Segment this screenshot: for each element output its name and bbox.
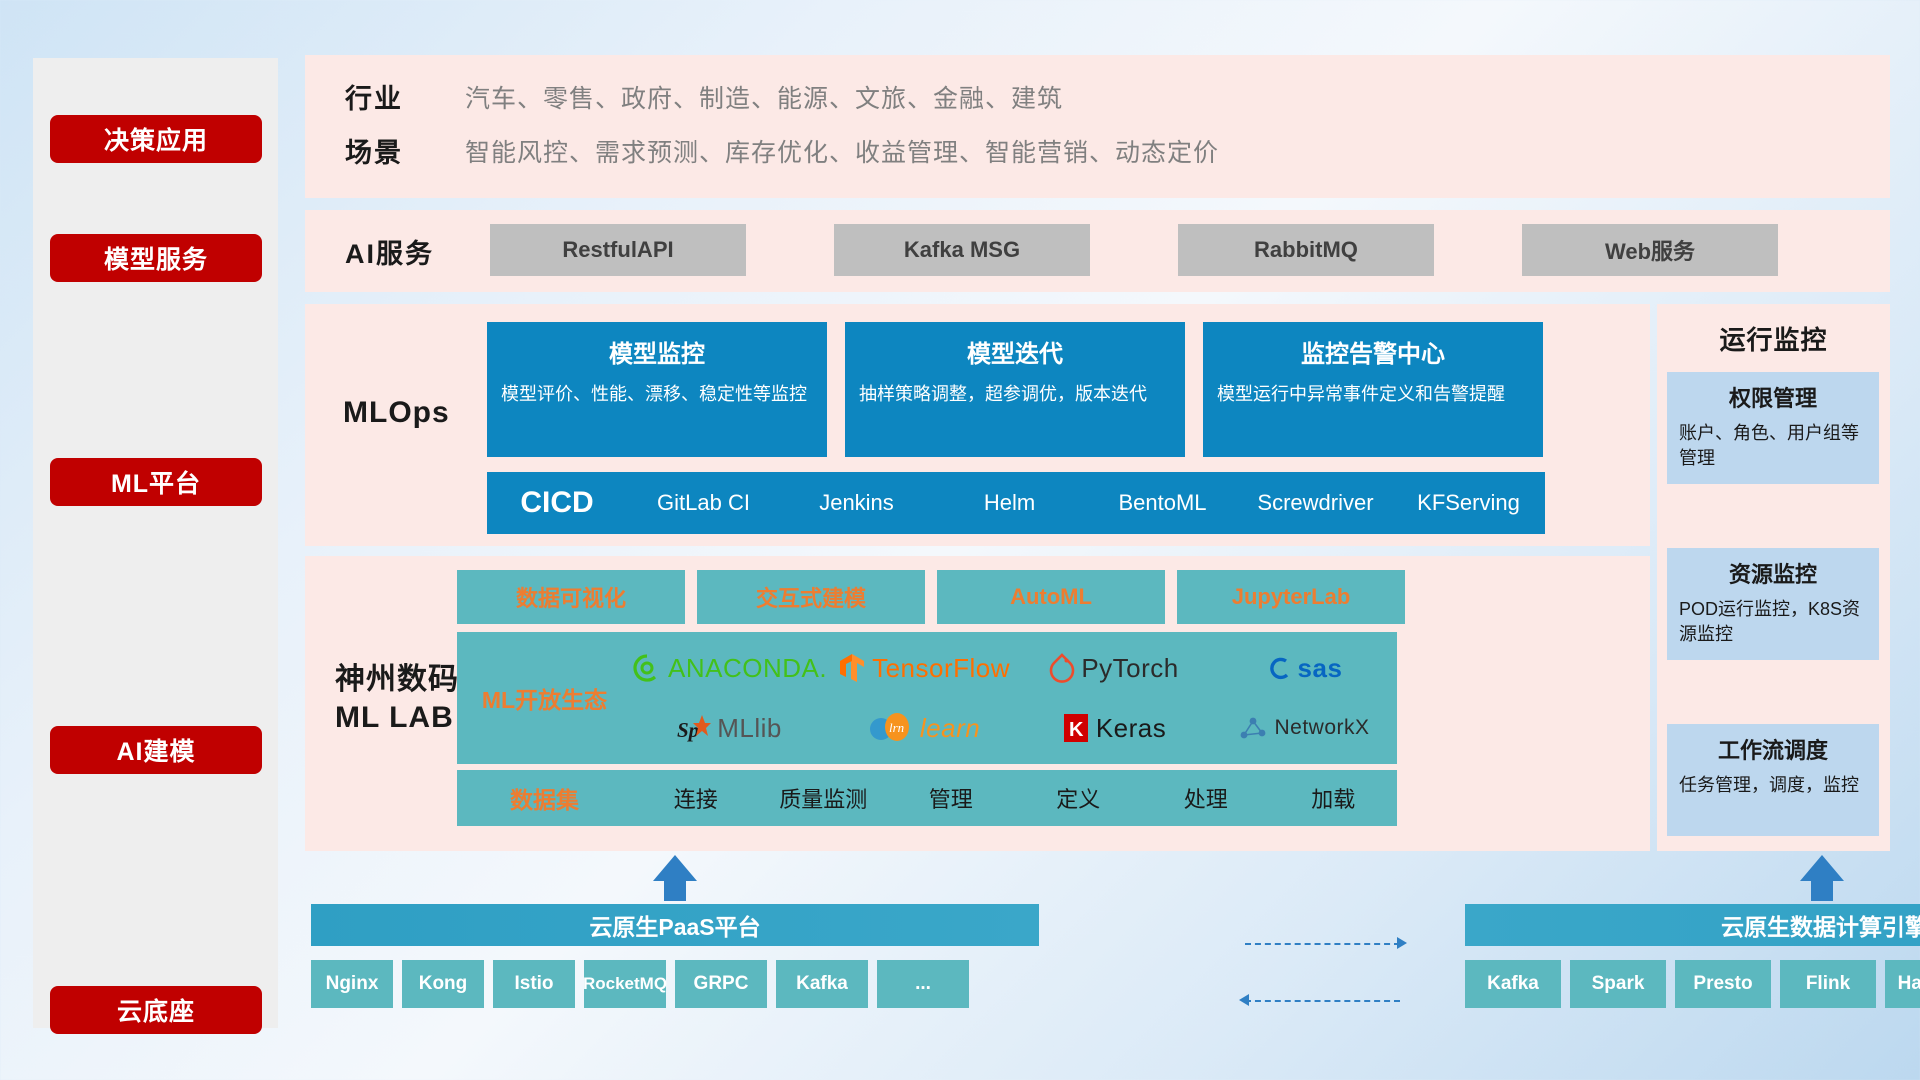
mlops-card-model-iteration[interactable]: 模型迭代 抽样策略调整，超参调优，版本迭代 xyxy=(845,322,1185,457)
chip-label: RestfulAPI xyxy=(562,237,673,263)
networkx-logo-text: NetworkX xyxy=(1274,716,1369,740)
engine-tag-kafka[interactable]: Kafka xyxy=(1465,960,1561,1008)
card-desc: 模型运行中异常事件定义和告警提醒 xyxy=(1217,381,1529,407)
dataset-item-load[interactable]: 加载 xyxy=(1270,782,1398,814)
up-arrow-engine-stem xyxy=(1811,879,1833,901)
card-desc: 抽样策略调整，超参调优，版本迭代 xyxy=(859,381,1171,407)
tab-label: 数据可视化 xyxy=(516,581,626,613)
dataset-item-connect[interactable]: 连接 xyxy=(632,782,760,814)
scikit-learn-mark-icon: lrn xyxy=(868,712,914,744)
sidebar-item-label: 决策应用 xyxy=(104,121,208,157)
ml-ecosystem-block: ML开放生态 ANACONDA. Ten xyxy=(457,632,1397,764)
tab-data-visualization[interactable]: 数据可视化 xyxy=(457,570,685,624)
engine-tag-row: Kafka Spark Presto Flink Hadoop Storm ..… xyxy=(1465,960,1920,1008)
cicd-title: CICD xyxy=(487,486,627,520)
sidebar-item-ai-modeling[interactable]: AI建模 xyxy=(50,726,262,774)
spark-mark-icon: Sp xyxy=(677,713,711,743)
monitoring-title: 运行监控 xyxy=(1657,304,1890,357)
service-chip-rabbitmq[interactable]: RabbitMQ xyxy=(1178,224,1434,276)
svg-text:Sp: Sp xyxy=(677,718,699,742)
sidebar-item-label: ML平台 xyxy=(111,464,201,500)
pytorch-logo: PyTorch xyxy=(1021,639,1207,697)
sidebar-item-label: 模型服务 xyxy=(104,240,208,276)
anaconda-logo: ANACONDA. xyxy=(632,639,827,697)
ml-lab-tabs: 数据可视化 交互式建模 AutoML JupyterLab xyxy=(457,570,1405,624)
paas-tag-grpc[interactable]: GRPC xyxy=(675,960,767,1008)
ai-service-band: AI服务 RestfulAPI Kafka MSG RabbitMQ Web服务 xyxy=(305,210,1890,292)
card-desc: 模型评价、性能、漂移、稳定性等监控 xyxy=(501,381,813,407)
cicd-item-screwdriver[interactable]: Screwdriver xyxy=(1239,491,1392,514)
card-title: 权限管理 xyxy=(1679,381,1867,413)
chip-label: Kafka MSG xyxy=(904,237,1020,263)
ml-ecosystem-title: ML开放生态 xyxy=(457,681,632,715)
mlops-card-group: 模型监控 模型评价、性能、漂移、稳定性等监控 模型迭代 抽样策略调整，超参调优，… xyxy=(487,322,1543,457)
card-title: 模型监控 xyxy=(501,334,813,369)
paas-tag-kafka[interactable]: Kafka xyxy=(776,960,868,1008)
mlops-band: MLOps 模型监控 模型评价、性能、漂移、稳定性等监控 模型迭代 抽样策略调整… xyxy=(305,304,1650,546)
paas-tag-kong[interactable]: Kong xyxy=(402,960,484,1008)
scene-row: 场景 智能风控、需求预测、库存优化、收益管理、智能营销、动态定价 xyxy=(345,131,1219,170)
tab-automl[interactable]: AutoML xyxy=(937,570,1165,624)
connector-dashed-right xyxy=(1245,943,1400,945)
sidebar-item-model-service[interactable]: 模型服务 xyxy=(50,234,262,282)
card-desc: 任务管理，调度，监控 xyxy=(1679,773,1867,798)
paas-tag-istio[interactable]: Istio xyxy=(493,960,575,1008)
service-chip-web-service[interactable]: Web服务 xyxy=(1522,224,1778,276)
scene-value: 智能风控、需求预测、库存优化、收益管理、智能营销、动态定价 xyxy=(465,133,1219,169)
sas-logo: sas xyxy=(1211,639,1397,697)
sidebar-item-cloud-base[interactable]: 云底座 xyxy=(50,986,262,1034)
service-chip-restfulapi[interactable]: RestfulAPI xyxy=(490,224,746,276)
cloud-engine-header: 云原生数据计算引擎 xyxy=(1465,904,1920,946)
svg-text:K: K xyxy=(1069,719,1084,741)
engine-tag-hadoop[interactable]: Hadoop xyxy=(1885,960,1920,1008)
sidebar-item-label: 云底座 xyxy=(117,992,195,1028)
dataset-bar: 数据集 连接 质量监测 管理 定义 处理 加载 xyxy=(457,770,1397,826)
monitoring-card-permissions[interactable]: 权限管理 账户、角色、用户组等管理 xyxy=(1667,372,1879,484)
dataset-item-quality-monitor[interactable]: 质量监测 xyxy=(760,782,888,814)
scikit-learn-logo: lrn learn xyxy=(831,699,1017,757)
keras-logo: K Keras xyxy=(1021,699,1207,757)
spark-mllib-logo: Sp MLlib xyxy=(632,699,827,757)
tab-jupyterlab[interactable]: JupyterLab xyxy=(1177,570,1405,624)
monitoring-card-resources[interactable]: 资源监控 POD运行监控，K8S资源监控 xyxy=(1667,548,1879,660)
ai-service-label: AI服务 xyxy=(345,232,434,271)
main-column: 行业 汽车、零售、政府、制造、能源、文旅、金融、建筑 场景 智能风控、需求预测、… xyxy=(305,0,1890,1080)
mlops-label: MLOps xyxy=(343,394,450,432)
tab-label: AutoML xyxy=(1010,584,1092,610)
tensorflow-mark-icon xyxy=(838,652,866,684)
ai-service-chips: RestfulAPI Kafka MSG RabbitMQ Web服务 xyxy=(490,224,1778,276)
networkx-mark-icon xyxy=(1238,713,1268,743)
sidebar-item-decision-apps[interactable]: 决策应用 xyxy=(50,115,262,163)
cicd-item-bentoml[interactable]: BentoML xyxy=(1086,491,1239,514)
connector-arrow-left-icon xyxy=(1239,994,1249,1006)
networkx-logo: NetworkX xyxy=(1211,699,1397,757)
cloud-paas-header: 云原生PaaS平台 xyxy=(311,904,1039,946)
tensorflow-logo-text: TensorFlow xyxy=(872,653,1010,684)
ml-ecosystem-logos: ANACONDA. TensorFlow xyxy=(632,639,1397,757)
anaconda-logo-text: ANACONDA. xyxy=(668,653,827,684)
card-title: 资源监控 xyxy=(1679,557,1867,589)
cicd-item-gitlab-ci[interactable]: GitLab CI xyxy=(627,491,780,514)
up-arrow-paas-stem xyxy=(664,879,686,901)
dataset-item-manage[interactable]: 管理 xyxy=(887,782,1015,814)
cicd-item-kfserving[interactable]: KFServing xyxy=(1392,491,1545,514)
card-desc: POD运行监控，K8S资源监控 xyxy=(1679,597,1867,647)
monitoring-card-workflow[interactable]: 工作流调度 任务管理，调度，监控 xyxy=(1667,724,1879,836)
industry-row: 行业 汽车、零售、政府、制造、能源、文旅、金融、建筑 xyxy=(345,77,1063,116)
engine-tag-spark[interactable]: Spark xyxy=(1570,960,1666,1008)
card-title: 模型迭代 xyxy=(859,334,1171,369)
chip-label: Web服务 xyxy=(1605,234,1695,266)
sidebar-item-label: AI建模 xyxy=(116,732,195,768)
tensorflow-logo: TensorFlow xyxy=(831,639,1017,697)
scene-label: 场景 xyxy=(345,131,465,170)
card-title: 监控告警中心 xyxy=(1217,334,1529,369)
sidebar-item-ml-platform[interactable]: ML平台 xyxy=(50,458,262,506)
engine-tag-flink[interactable]: Flink xyxy=(1780,960,1876,1008)
paas-tag-more[interactable]: ... xyxy=(877,960,969,1008)
keras-logo-text: Keras xyxy=(1096,713,1166,744)
scikit-learn-logo-text: learn xyxy=(920,713,980,744)
pytorch-logo-text: PyTorch xyxy=(1081,653,1178,684)
paas-tag-nginx[interactable]: Nginx xyxy=(311,960,393,1008)
service-chip-kafka-msg[interactable]: Kafka MSG xyxy=(834,224,1090,276)
mlops-card-model-monitoring[interactable]: 模型监控 模型评价、性能、漂移、稳定性等监控 xyxy=(487,322,827,457)
dataset-title: 数据集 xyxy=(457,781,632,815)
connector-arrow-right-icon xyxy=(1397,937,1407,949)
sas-logo-text: sas xyxy=(1298,653,1343,684)
card-desc: 账户、角色、用户组等管理 xyxy=(1679,421,1867,471)
spark-mllib-logo-text: MLlib xyxy=(717,713,782,744)
connector-dashed-left xyxy=(1245,1000,1400,1002)
chip-label: RabbitMQ xyxy=(1254,237,1358,263)
svg-text:lrn: lrn xyxy=(889,720,904,735)
cicd-item-helm[interactable]: Helm xyxy=(933,491,1086,514)
layer-rail: 决策应用 模型服务 ML平台 AI建模 云底座 xyxy=(33,58,278,1028)
tab-label: JupyterLab xyxy=(1232,584,1351,610)
card-title: 工作流调度 xyxy=(1679,733,1867,765)
engine-tag-presto[interactable]: Presto xyxy=(1675,960,1771,1008)
industry-label: 行业 xyxy=(345,77,465,116)
cicd-bar: CICD GitLab CI Jenkins Helm BentoML Scre… xyxy=(487,472,1545,534)
industry-value: 汽车、零售、政府、制造、能源、文旅、金融、建筑 xyxy=(465,79,1063,115)
mlops-card-alert-center[interactable]: 监控告警中心 模型运行中异常事件定义和告警提醒 xyxy=(1203,322,1543,457)
keras-mark-icon: K xyxy=(1062,712,1090,744)
ml-lab-band: 神州数码 ML LAB 数据可视化 交互式建模 AutoML JupyterLa… xyxy=(305,556,1650,851)
tab-label: 交互式建模 xyxy=(756,581,866,613)
paas-tag-rocketmq[interactable]: RocketMQ xyxy=(584,960,666,1008)
sas-mark-icon xyxy=(1266,655,1292,681)
tab-interactive-modeling[interactable]: 交互式建模 xyxy=(697,570,925,624)
paas-tag-row: Nginx Kong Istio RocketMQ GRPC Kafka ... xyxy=(311,960,969,1008)
pytorch-mark-icon xyxy=(1049,653,1075,683)
decision-apps-band: 行业 汽车、零售、政府、制造、能源、文旅、金融、建筑 场景 智能风控、需求预测、… xyxy=(305,55,1890,198)
up-arrow-paas-icon xyxy=(653,855,697,881)
up-arrow-engine-icon xyxy=(1800,855,1844,881)
monitoring-rail: 运行监控 权限管理 账户、角色、用户组等管理 资源监控 POD运行监控，K8S资… xyxy=(1657,304,1890,851)
cicd-item-jenkins[interactable]: Jenkins xyxy=(780,491,933,514)
dataset-item-process[interactable]: 处理 xyxy=(1142,782,1270,814)
dataset-item-define[interactable]: 定义 xyxy=(1015,782,1143,814)
architecture-diagram: 决策应用 模型服务 ML平台 AI建模 云底座 行业 汽车、零售、政府、制造、能… xyxy=(0,0,1920,1080)
anaconda-mark-icon xyxy=(632,653,662,683)
